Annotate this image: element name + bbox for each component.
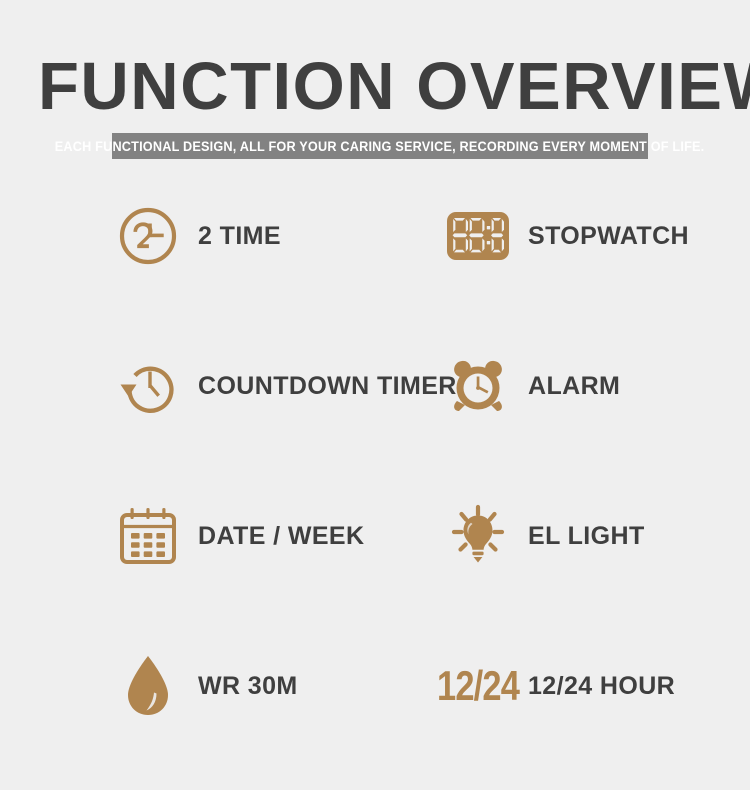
page-title: FUNCTION OVERVIEW — [38, 52, 722, 122]
feature-label: COUNTDOWN TIMER — [198, 372, 457, 401]
feature-item-date-week[interactable]: DATE / WEEK — [112, 490, 364, 582]
subtitle-text: EACH FUNCTIONAL DESIGN, ALL FOR YOUR CAR… — [55, 139, 705, 154]
feature-row: 2 TIME — [0, 190, 750, 340]
feature-row: DATE / WEEK — [0, 490, 750, 640]
feature-grid: 2 TIME — [0, 190, 750, 790]
feature-row: COUNTDOWN TIMER — [0, 340, 750, 490]
feature-item-12-24-hour[interactable]: 12/24 12/24 HOUR — [442, 640, 675, 732]
alarm-clock-icon — [442, 350, 514, 422]
subtitle-banner: EACH FUNCTIONAL DESIGN, ALL FOR YOUR CAR… — [112, 133, 648, 159]
dual-time-clock-icon — [112, 200, 184, 272]
twelve-twentyfour-text-icon: 12/24 — [442, 650, 514, 722]
feature-label: 12/24 HOUR — [528, 672, 675, 701]
feature-label: DATE / WEEK — [198, 522, 364, 551]
lightbulb-icon — [442, 500, 514, 572]
feature-item-el-light[interactable]: EL LIGHT — [442, 490, 645, 582]
feature-item-2-time[interactable]: 2 TIME — [112, 190, 281, 282]
calendar-icon — [112, 500, 184, 572]
countdown-clock-icon — [112, 350, 184, 422]
feature-row: WR 30M 12/24 12/24 HOUR — [0, 640, 750, 790]
feature-item-countdown-timer[interactable]: COUNTDOWN TIMER — [112, 340, 457, 432]
feature-label: 2 TIME — [198, 222, 281, 251]
twelve-twentyfour-text: 12/24 — [437, 665, 519, 707]
feature-item-stopwatch[interactable]: STOPWATCH — [442, 190, 689, 282]
feature-label: STOPWATCH — [528, 222, 689, 251]
feature-label: WR 30M — [198, 672, 298, 701]
water-drop-icon — [112, 650, 184, 722]
feature-item-wr-30m[interactable]: WR 30M — [112, 640, 298, 732]
feature-item-alarm[interactable]: ALARM — [442, 340, 620, 432]
feature-label: ALARM — [528, 372, 620, 401]
feature-label: EL LIGHT — [528, 522, 645, 551]
digital-display-icon — [442, 200, 514, 272]
